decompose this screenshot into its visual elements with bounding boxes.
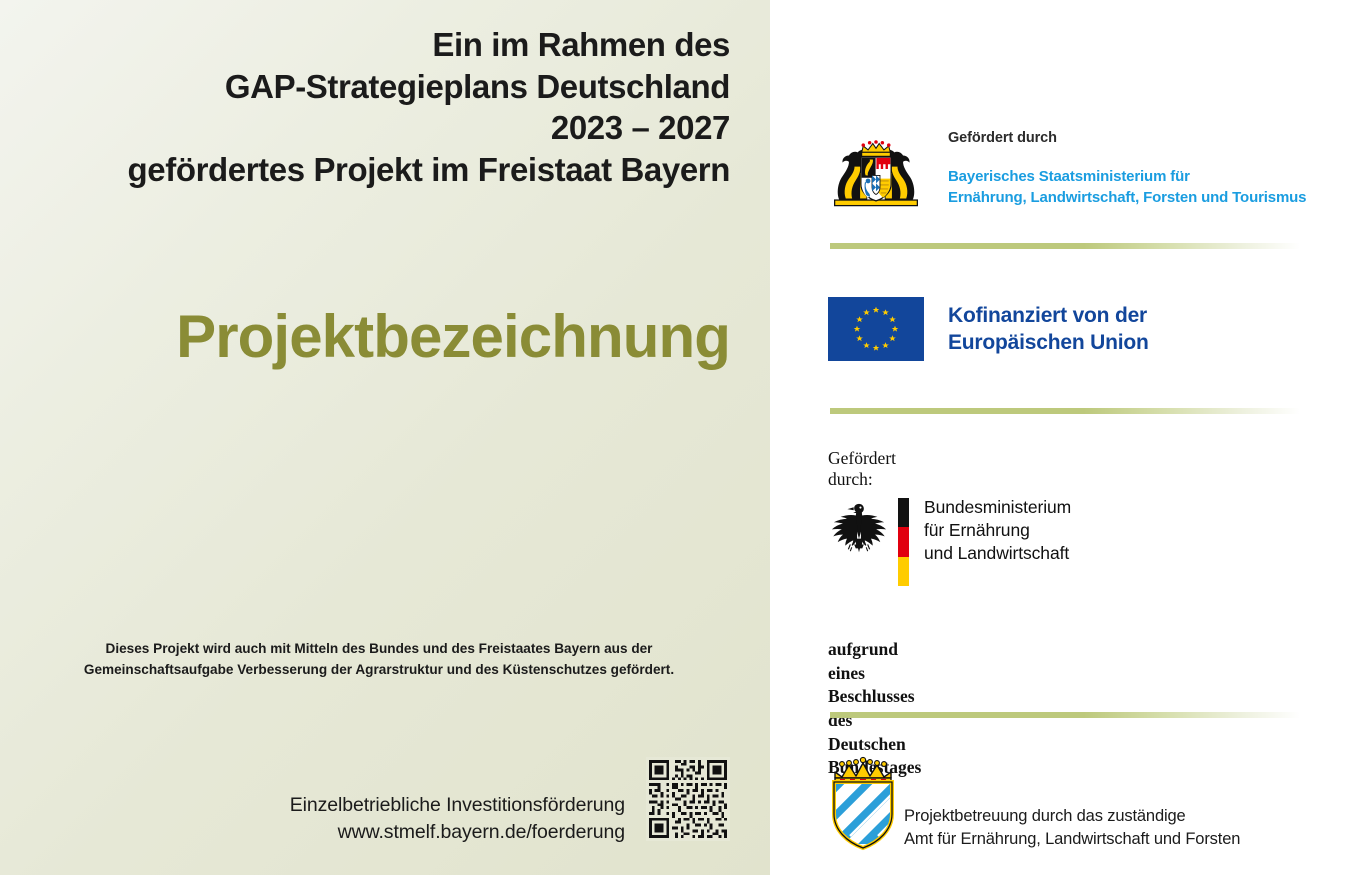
stmelf-eyebrow-label: Gefördert durch [948, 130, 1352, 146]
bavarian-ministry-text: Gefördert durch Bayerisches Staatsminist… [948, 130, 1352, 209]
bundesadler-icon [830, 500, 888, 558]
eu-flag-icon [828, 297, 924, 361]
german-flag-bar-icon [898, 498, 909, 586]
headline-line-4: gefördertes Projekt im Freistaat Bayern [30, 149, 730, 191]
section-divider-2 [830, 408, 1300, 414]
flag-segment-black [898, 498, 909, 527]
eu-line-1: Kofinanziert von der [948, 303, 1348, 330]
bmel-name-line-1: Bundesministerium [924, 496, 1224, 519]
bavarian-shield-icon [826, 752, 900, 852]
funding-note-line-2: Gemeinschaftsaufgabe Verbesserung der Ag… [28, 659, 730, 680]
footer-website-url[interactable]: www.stmelf.bayern.de/foerderung [120, 819, 625, 846]
page-headline: Ein im Rahmen des GAP-Strategieplans Deu… [30, 24, 730, 190]
aelf-line-2: Amt für Ernährung, Landwirtschaft und Fo… [904, 828, 1352, 851]
section-divider-3 [830, 712, 1300, 718]
section-divider-1 [830, 243, 1300, 249]
footer-program-name: Einzelbetriebliche Investitionsförderung [120, 792, 625, 819]
bavarian-state-coat-of-arms-icon [828, 138, 924, 208]
headline-line-3: 2023 – 2027 [30, 107, 730, 149]
funding-note-line-1: Dieses Projekt wird auch mit Mitteln des… [28, 638, 730, 659]
eu-line-2: Europäischen Union [948, 330, 1348, 357]
project-supervision-text: Projektbetreuung durch das zuständige Am… [904, 805, 1352, 852]
bmel-name-line-2: für Ernährung [924, 519, 1224, 542]
qr-code-icon[interactable] [646, 757, 730, 841]
bmel-name-line-3: und Landwirtschaft [924, 542, 1224, 565]
stmelf-name-line-1: Bayerisches Staatsministerium für [948, 166, 1352, 187]
stmelf-name-line-2: Ernährung, Landwirtschaft, Forsten und T… [948, 187, 1352, 208]
bmel-name: Bundesministerium für Ernährung und Land… [924, 496, 1224, 565]
flag-segment-red [898, 527, 909, 556]
project-title: Projektbezeichnung [30, 305, 730, 368]
headline-line-1: Ein im Rahmen des [30, 24, 730, 66]
right-logo-panel: Gefördert durch Bayerisches Staatsminist… [770, 0, 1352, 875]
left-poster-panel: Ein im Rahmen des GAP-Strategieplans Deu… [0, 0, 770, 875]
aelf-line-1: Projektbetreuung durch das zuständige [904, 805, 1352, 828]
funding-note: Dieses Projekt wird auch mit Mitteln des… [28, 638, 730, 680]
flag-segment-gold [898, 557, 909, 586]
eu-cofunding-text: Kofinanziert von der Europäischen Union [948, 303, 1348, 356]
footer-program-info: Einzelbetriebliche Investitionsförderung… [120, 792, 625, 846]
bmel-footnote-line-1: aufgrund eines Beschlusses [828, 638, 921, 709]
headline-line-2: GAP-Strategieplans Deutschland [30, 66, 730, 108]
bmel-eyebrow-label: Gefördert durch: [828, 448, 896, 490]
